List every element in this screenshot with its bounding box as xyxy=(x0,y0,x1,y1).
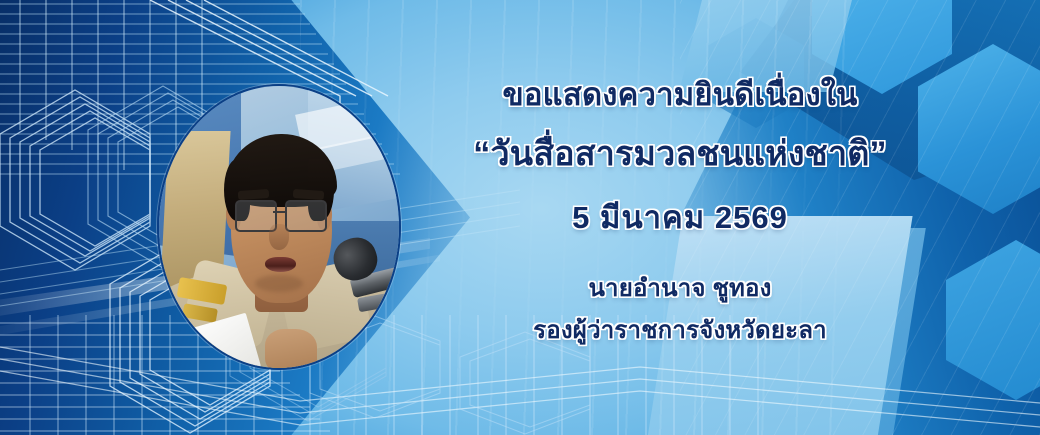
text-content-block: ขอแสดงความยินดีเนื่องใน “วันสื่อสารมวลชน… xyxy=(400,0,960,435)
portrait-photo xyxy=(157,84,401,370)
congratulation-banner: ขอแสดงความยินดีเนื่องใน “วันสื่อสารมวลชน… xyxy=(0,0,1040,435)
event-date: 5 มีนาคม 2569 xyxy=(572,201,788,235)
headline-line-2: “วันสื่อสารมวลชนแห่งชาติ” xyxy=(473,136,886,173)
person-name: นายอำนาจ ชูทอง xyxy=(588,276,771,302)
headline-line-1: ขอแสดงความยินดีเนื่องใน xyxy=(502,78,857,112)
portrait-image-content xyxy=(159,86,399,368)
person-role: รองผู้ว่าราชการจังหวัดยะลา xyxy=(533,318,827,344)
